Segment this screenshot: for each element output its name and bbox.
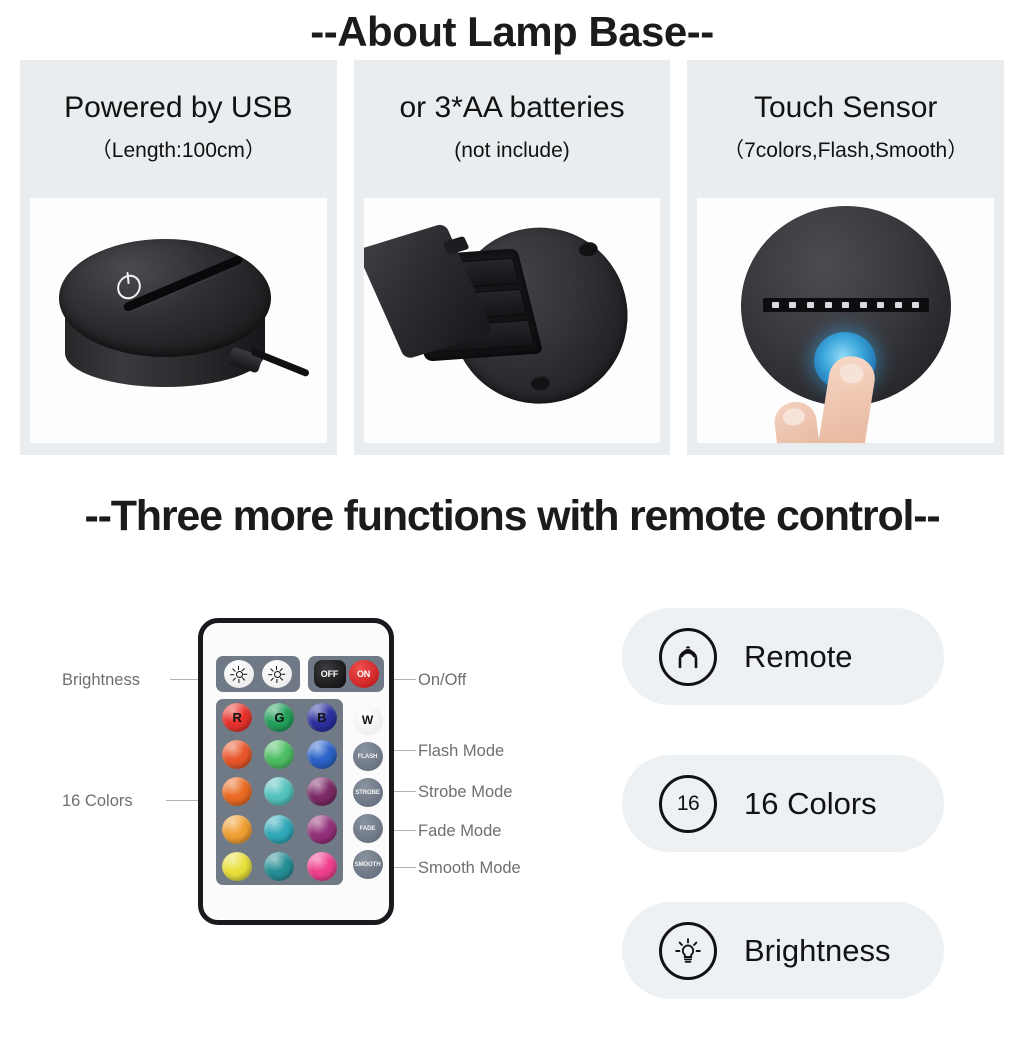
color-button-r2c1[interactable]: [222, 740, 252, 769]
callout-fade-mode: Fade Mode: [418, 823, 501, 840]
battery-compartment-photo: 1.5V/3·AA 1.5V/3·AA 1.5V/3·AA: [364, 198, 661, 443]
infographic-page: --About Lamp Base-- Powered by USB （Leng…: [0, 0, 1024, 1024]
color-button-r3c2[interactable]: [264, 777, 294, 806]
lamp-base-illustration: [43, 231, 313, 411]
card-powered-by-usb: Powered by USB （Length:100cm）: [20, 60, 337, 455]
brightness-up-button[interactable]: [224, 660, 254, 688]
section-title-remote: --Three more functions with remote contr…: [0, 492, 1024, 541]
brightness-button-group: [216, 656, 300, 692]
brightness-down-icon: [270, 667, 285, 682]
feature-card-row: Powered by USB （Length:100cm） or 3*AA ba…: [20, 60, 1004, 455]
callout-flash-mode: Flash Mode: [418, 743, 504, 760]
sixteen-badge-text: 16: [677, 792, 699, 816]
color-button-blue[interactable]: B: [307, 703, 337, 732]
card-title: or 3*AA batteries: [399, 93, 624, 123]
callout-brightness: Brightness: [62, 672, 140, 689]
color-button-pad: R G B: [216, 699, 343, 885]
remote-control-body: OFF ON R G B: [198, 618, 394, 925]
callout-smooth-mode: Smooth Mode: [418, 860, 521, 877]
card-title: Touch Sensor: [754, 93, 937, 123]
color-button-green[interactable]: G: [264, 703, 294, 732]
touch-base-illustration: [741, 206, 951, 416]
power-button-group: OFF ON: [308, 656, 384, 692]
pill-brightness: Brightness: [622, 902, 944, 999]
base-top-surface: [59, 239, 271, 357]
color-button-r5c1[interactable]: [222, 852, 252, 881]
power-on-button[interactable]: ON: [349, 660, 379, 688]
card-title: Powered by USB: [64, 93, 292, 123]
white-button[interactable]: W: [353, 706, 383, 735]
color-button-r3c3[interactable]: [307, 777, 337, 806]
card-aa-batteries: or 3*AA batteries (not include) 1.5V/3·A…: [354, 60, 671, 455]
flash-button[interactable]: FLASH: [353, 742, 383, 771]
remote-top-row: OFF ON: [216, 656, 384, 692]
color-button-r5c3[interactable]: [307, 852, 337, 881]
brightness-up-icon: [232, 667, 247, 682]
callout-16-colors: 16 Colors: [62, 793, 133, 810]
color-button-r2c3[interactable]: [307, 740, 337, 769]
color-button-r5c2[interactable]: [264, 852, 294, 881]
card-subtitle: （7colors,Flash,Smooth）: [723, 140, 968, 161]
color-button-red[interactable]: R: [222, 703, 252, 732]
remote-diagram: Brightness 16 Colors On/Off Flash Mode S…: [0, 560, 620, 980]
page-title: --About Lamp Base--: [0, 8, 1024, 56]
led-strip: [763, 298, 929, 312]
pill-label: Brightness: [744, 933, 890, 969]
mode-button-column: W FLASH STROBE FADE SMOOTH: [349, 699, 386, 885]
battery-base-illustration: 1.5V/3·AA 1.5V/3·AA 1.5V/3·AA: [368, 198, 655, 443]
bulb-icon: [659, 922, 717, 980]
pill-16-colors: 16 16 Colors: [622, 755, 944, 852]
acrylic-panel-slot: [123, 254, 244, 312]
color-button-r3c1[interactable]: [222, 777, 252, 806]
touch-sensor-photo: [697, 198, 994, 443]
strobe-button[interactable]: STROBE: [353, 778, 383, 807]
pill-label: 16 Colors: [744, 786, 877, 822]
brightness-down-button[interactable]: [262, 660, 292, 688]
card-touch-sensor: Touch Sensor （7colors,Flash,Smooth）: [687, 60, 1004, 455]
lamp-base-usb-photo: [30, 198, 327, 443]
callout-strobe-mode: Strobe Mode: [418, 784, 512, 801]
color-button-r4c3[interactable]: [307, 815, 337, 844]
power-off-button[interactable]: OFF: [314, 660, 346, 688]
callout-on-off: On/Off: [418, 672, 466, 689]
feature-pill-list: Remote 16 16 Colors Brig: [622, 608, 952, 1049]
color-button-r2c2[interactable]: [264, 740, 294, 769]
card-subtitle: (not include): [454, 140, 570, 161]
fade-button[interactable]: FADE: [353, 814, 383, 843]
smooth-button[interactable]: SMOOTH: [353, 850, 383, 879]
pill-remote: Remote: [622, 608, 944, 705]
pill-label: Remote: [744, 639, 853, 675]
remote-signal-icon: [659, 628, 717, 686]
color-button-r4c2[interactable]: [264, 815, 294, 844]
card-subtitle: （Length:100cm）: [91, 140, 266, 161]
thumb: [772, 399, 823, 443]
sixteen-circle-icon: 16: [659, 775, 717, 833]
color-button-r4c1[interactable]: [222, 815, 252, 844]
